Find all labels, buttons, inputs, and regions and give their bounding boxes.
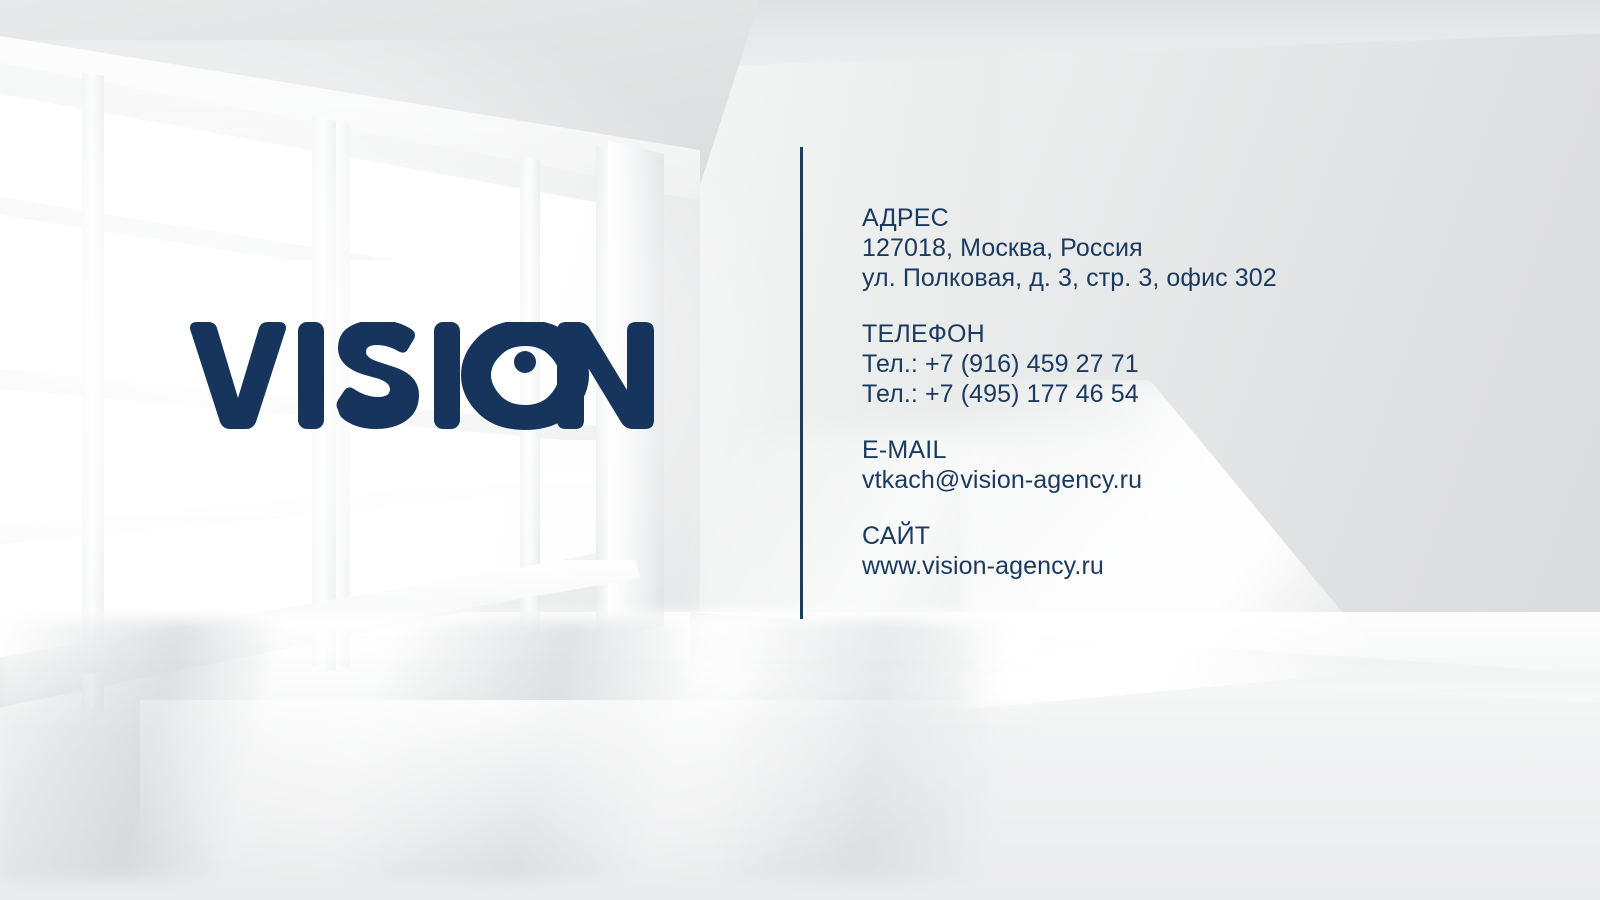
- contact-group-website: САЙТ www.vision-agency.ru: [862, 521, 1502, 581]
- email-address[interactable]: vtkach@vision-agency.ru: [862, 465, 1502, 495]
- contact-slide: АДРЕС 127018, Москва, Россия ул. Полкова…: [0, 0, 1600, 900]
- contact-group-phone: ТЕЛЕФОН Тел.: +7 (916) 459 27 71 Тел.: +…: [862, 319, 1502, 409]
- address-heading: АДРЕС: [862, 203, 1502, 233]
- website-heading: САЙТ: [862, 521, 1502, 551]
- window: [0, 0, 720, 900]
- website-url[interactable]: www.vision-agency.ru: [862, 551, 1502, 581]
- contact-info-block: АДРЕС 127018, Москва, Россия ул. Полкова…: [862, 203, 1502, 581]
- vertical-divider: [800, 147, 803, 619]
- email-heading: E-MAIL: [862, 435, 1502, 465]
- address-line-2: ул. Полковая, д. 3, стр. 3, офис 302: [862, 263, 1502, 293]
- vision-logo: [186, 322, 656, 430]
- contact-group-email: E-MAIL vtkach@vision-agency.ru: [862, 435, 1502, 495]
- contact-group-address: АДРЕС 127018, Москва, Россия ул. Полкова…: [862, 203, 1502, 293]
- phone-line-2[interactable]: Тел.: +7 (495) 177 46 54: [862, 379, 1502, 409]
- phone-heading: ТЕЛЕФОН: [862, 319, 1502, 349]
- phone-line-1[interactable]: Тел.: +7 (916) 459 27 71: [862, 349, 1502, 379]
- address-line-1: 127018, Москва, Россия: [862, 233, 1502, 263]
